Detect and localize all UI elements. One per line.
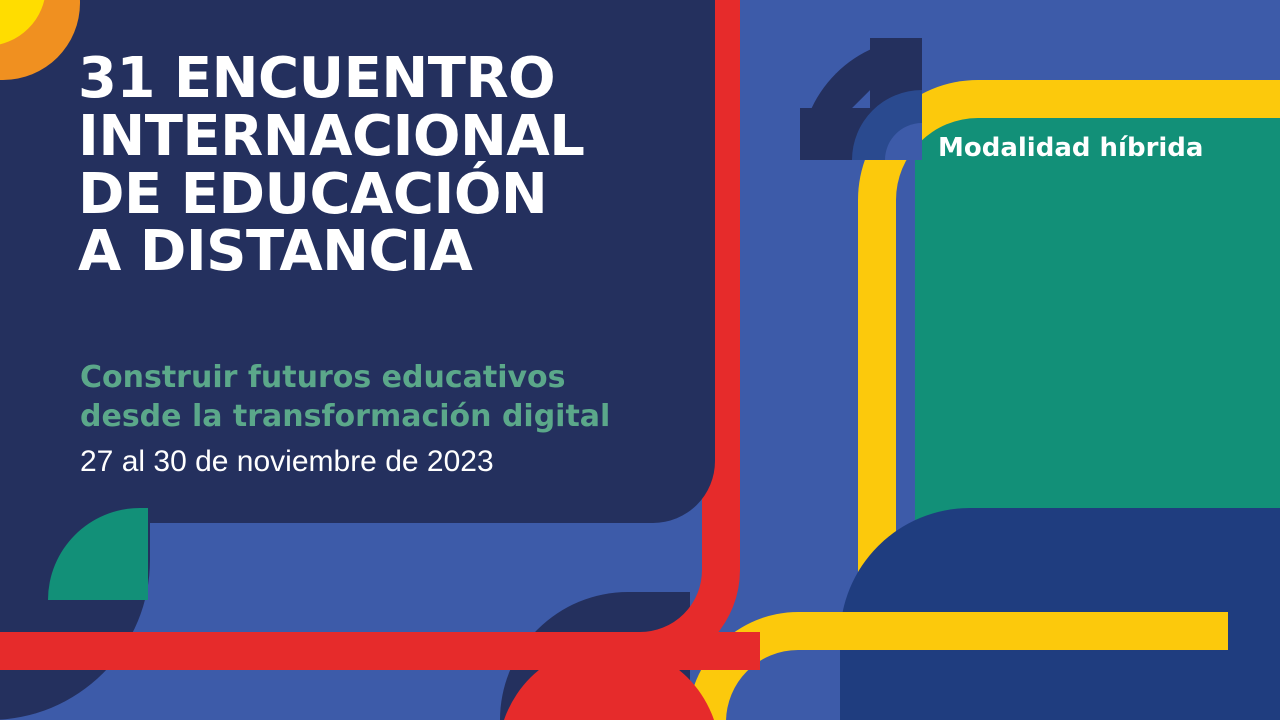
status-badge: Modalidad híbrida bbox=[938, 133, 1203, 163]
subtitle-line-2: desde la transformación digital bbox=[80, 397, 700, 436]
title-line-3: DE EDUCACIÓN bbox=[78, 168, 698, 222]
event-poster: 31 ENCUENTRO INTERNACIONAL DE EDUCACIÓN … bbox=[0, 0, 1280, 720]
title-line-2: INTERNACIONAL bbox=[78, 110, 698, 164]
yellow-stripe-cap-top bbox=[1142, 80, 1280, 118]
red-stripe-tail bbox=[0, 632, 760, 670]
subtitle-line-1: Construir futuros educativos bbox=[80, 358, 700, 397]
event-date: 27 al 30 de noviembre de 2023 bbox=[80, 442, 700, 481]
title-line-1: 31 ENCUENTRO bbox=[78, 52, 698, 106]
page-title: 31 ENCUENTRO INTERNACIONAL DE EDUCACIÓN … bbox=[78, 52, 698, 283]
subtitle-and-date: Construir futuros educativos desde la tr… bbox=[80, 358, 700, 481]
title-line-4: A DISTANCIA bbox=[78, 225, 698, 279]
yellow-curve-bottom bbox=[688, 612, 1228, 720]
